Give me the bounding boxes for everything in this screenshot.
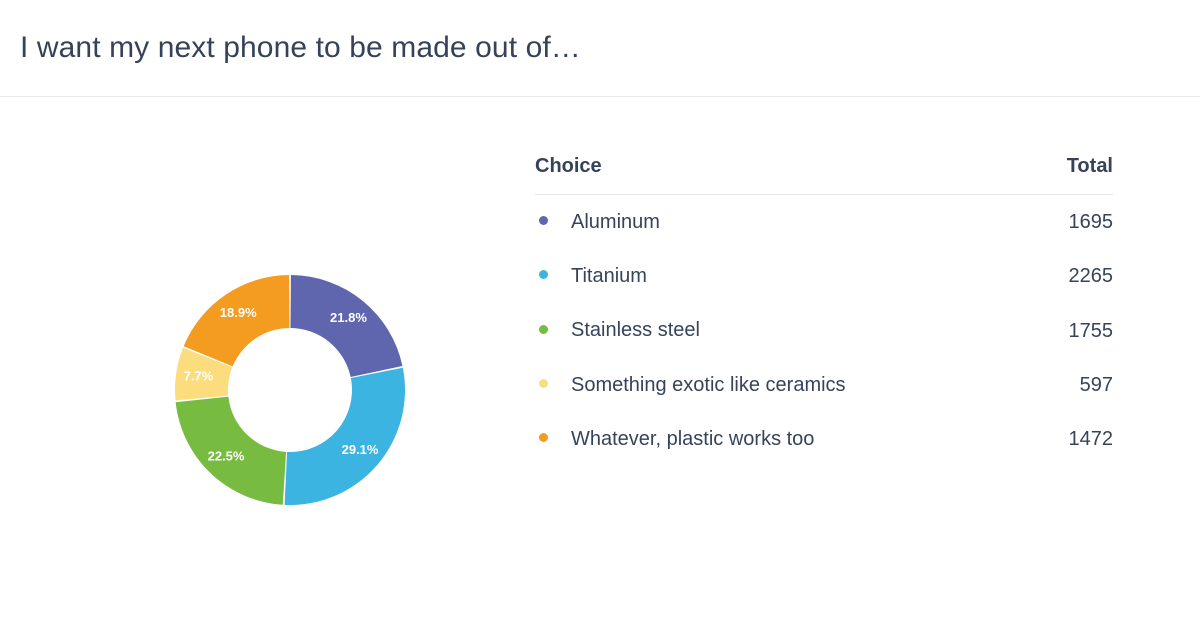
legend-choice-cell: Stainless steel <box>535 303 963 357</box>
legend-region: Choice Total Aluminum1695Titanium2265Sta… <box>535 97 1200 466</box>
results-table-head: Choice Total <box>535 155 1113 195</box>
legend-choice-cell: Something exotic like ceramics <box>535 358 963 412</box>
legend-total-value: 1472 <box>963 412 1113 466</box>
legend-color-dot-icon <box>539 325 548 334</box>
results-table: Choice Total Aluminum1695Titanium2265Sta… <box>535 155 1113 466</box>
legend-color-dot-icon <box>539 379 548 388</box>
donut-chart: 21.8%29.1%22.5%7.7%18.9% <box>0 97 535 630</box>
legend-choice-label: Whatever, plastic works too <box>571 428 814 450</box>
slice-percent-label: 18.9% <box>220 305 257 320</box>
table-row[interactable]: Titanium2265 <box>535 249 1113 303</box>
donut-slice-group <box>175 275 405 505</box>
slice-percent-label: 21.8% <box>330 310 367 325</box>
legend-total-value: 2265 <box>963 249 1113 303</box>
donut-slice[interactable] <box>290 275 402 377</box>
legend-choice-label: Titanium <box>571 265 647 287</box>
results-table-body: Aluminum1695Titanium2265Stainless steel1… <box>535 195 1113 467</box>
legend-total-value: 1695 <box>963 195 1113 250</box>
legend-color-dot-icon <box>539 270 548 279</box>
table-row[interactable]: Something exotic like ceramics597 <box>535 358 1113 412</box>
legend-choice-cell: Whatever, plastic works too <box>535 412 963 466</box>
legend-choice-cell: Aluminum <box>535 195 963 250</box>
legend-choice-label: Aluminum <box>571 211 660 233</box>
legend-total-value: 1755 <box>963 303 1113 357</box>
table-row[interactable]: Stainless steel1755 <box>535 303 1113 357</box>
legend-color-dot-icon <box>539 433 548 442</box>
donut-chart-region: 21.8%29.1%22.5%7.7%18.9% <box>0 97 535 630</box>
column-header-total: Total <box>963 155 1113 195</box>
legend-color-dot-icon <box>539 216 548 225</box>
table-row[interactable]: Whatever, plastic works too1472 <box>535 412 1113 466</box>
poll-result-card: I want my next phone to be made out of… … <box>0 0 1200 630</box>
page-title: I want my next phone to be made out of… <box>20 30 581 66</box>
legend-choice-label: Stainless steel <box>571 320 700 342</box>
poll-header: I want my next phone to be made out of… <box>0 0 1200 97</box>
legend-total-value: 597 <box>963 358 1113 412</box>
legend-choice-label: Something exotic like ceramics <box>571 374 846 396</box>
legend-choice-cell: Titanium <box>535 249 963 303</box>
donut-slice[interactable] <box>285 368 405 505</box>
slice-percent-label: 22.5% <box>208 448 245 463</box>
donut-slice[interactable] <box>184 275 290 366</box>
slice-percent-label: 7.7% <box>184 368 214 383</box>
table-header-row: Choice Total <box>535 155 1113 195</box>
poll-body: 21.8%29.1%22.5%7.7%18.9% Choice Total Al… <box>0 97 1200 630</box>
column-header-choice: Choice <box>535 155 963 195</box>
table-row[interactable]: Aluminum1695 <box>535 195 1113 250</box>
slice-percent-label: 29.1% <box>342 442 379 457</box>
